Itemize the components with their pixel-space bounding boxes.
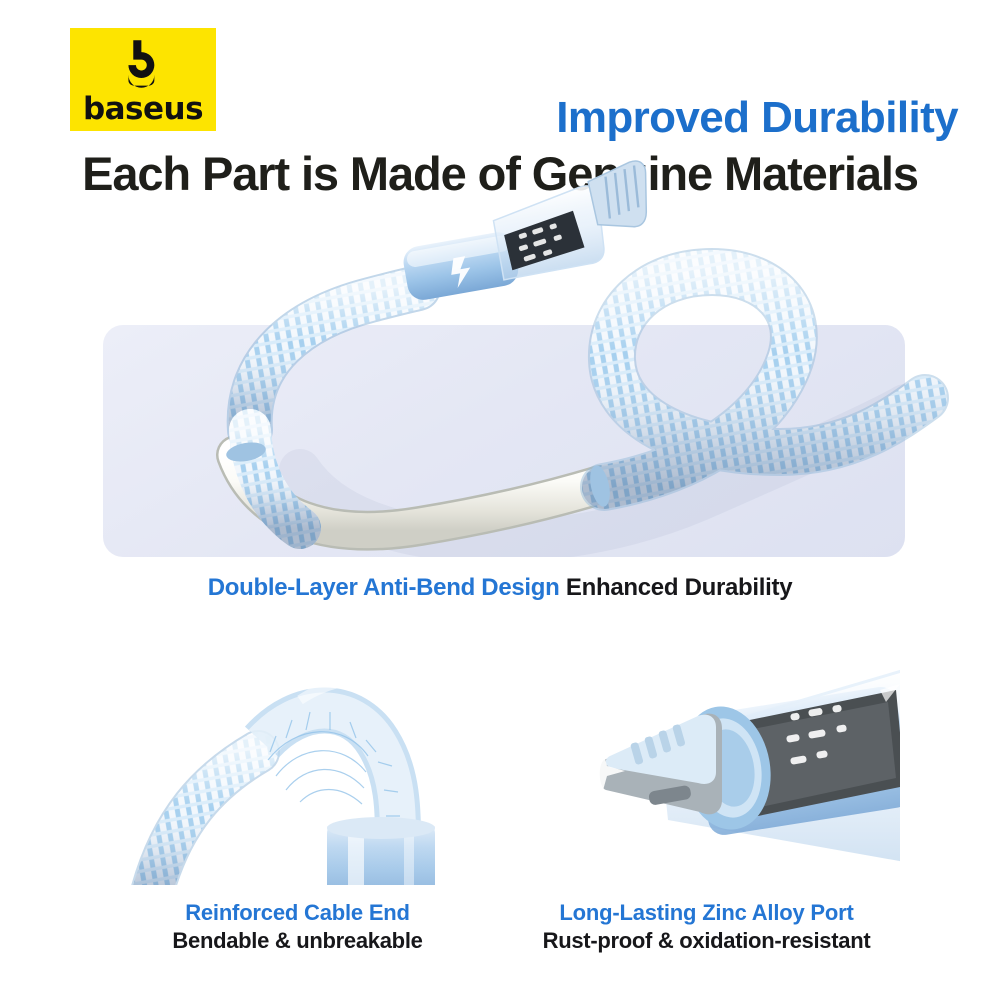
product-feature-page: baseus Improved Durability Each Part is … bbox=[0, 0, 1000, 1000]
caption-bottom-right: Long-Lasting Zinc Alloy Port Rust-proof … bbox=[513, 899, 900, 955]
caption-bl-subtitle: Bendable & unbreakable bbox=[103, 927, 492, 956]
panel-double-layer-anti-bend bbox=[103, 325, 905, 557]
brand-wordmark: baseus bbox=[83, 94, 203, 125]
caption-bl-title: Reinforced Cable End bbox=[103, 899, 492, 927]
headline-primary: Improved Durability bbox=[556, 93, 958, 143]
baseus-logo-badge: baseus bbox=[70, 28, 216, 131]
cable-illustration-bottom-left bbox=[150, 679, 470, 900]
panel-background bbox=[103, 325, 905, 557]
caption-top-highlight: Double-Layer Anti-Bend Design bbox=[208, 574, 560, 601]
caption-br-title: Long-Lasting Zinc Alloy Port bbox=[513, 899, 900, 927]
headline-secondary: Each Part is Made of Genuine Materials bbox=[82, 146, 918, 201]
caption-br-subtitle: Rust-proof & oxidation-resistant bbox=[513, 927, 900, 956]
baseus-b-mark-icon bbox=[116, 37, 170, 91]
caption-bottom-left: Reinforced Cable End Bendable & unbreaka… bbox=[103, 899, 492, 955]
caption-top-panel: Double-Layer Anti-Bend Design Enhanced D… bbox=[0, 574, 1000, 602]
cable-illustration-bottom-right bbox=[579, 670, 913, 862]
sparkle-icon bbox=[579, 748, 625, 794]
caption-top-rest: Enhanced Durability bbox=[566, 574, 792, 601]
